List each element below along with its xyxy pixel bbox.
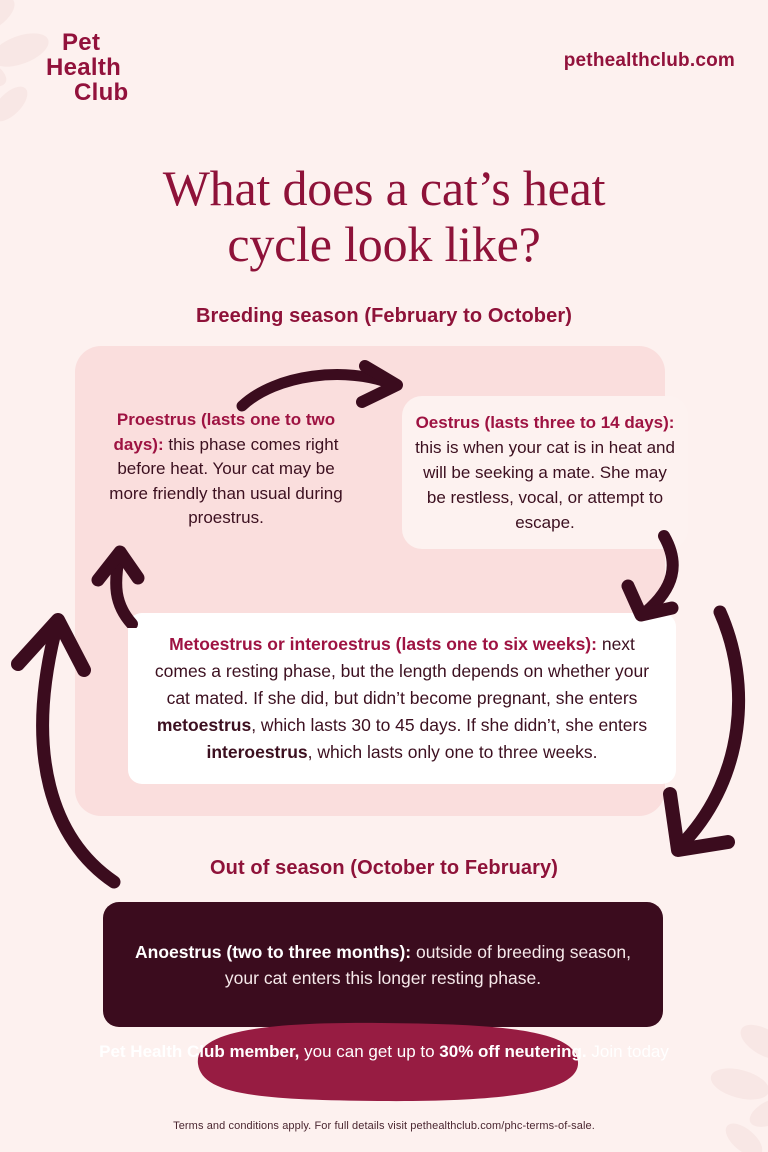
metoestrus-bold-1: metoestrus [157,715,251,735]
metoestrus-bold-2: interoestrus [206,742,307,762]
infographic-page: Pet Health Club pethealthclub.com What d… [0,0,768,1152]
logo-line-2: Health [46,55,166,80]
cta-bold-1: Pet Health Club member, [99,1042,299,1061]
metoestrus-heading: Metoestrus or interoestrus (lasts one to… [169,634,597,654]
cta-text: Pet Health Club member, you can get up t… [0,1039,768,1064]
phase-card-proestrus: Proestrus (lasts one to two days): this … [92,398,360,541]
metoestrus-body-2: , which lasts 30 to 45 days. If she didn… [251,715,647,735]
page-title-line-2: cycle look like? [0,216,768,272]
anoestrus-heading: Anoestrus (two to three months): [135,942,411,962]
breeding-season-label: Breeding season (February to October) [0,305,768,328]
cta-text-2: Join today [587,1042,669,1061]
metoestrus-body-3: , which lasts only one to three weeks. [308,742,598,762]
brand-logo[interactable]: Pet Health Club [46,30,166,105]
phase-card-metoestrus: Metoestrus or interoestrus (lasts one to… [128,613,676,784]
page-title-line-1: What does a cat’s heat [0,160,768,216]
phase-card-anoestrus: Anoestrus (two to three months): outside… [103,902,663,1027]
cta-banner[interactable]: Pet Health Club member, you can get up t… [0,1020,768,1104]
oestrus-body: this is when your cat is in heat and wil… [415,438,675,532]
phase-card-oestrus: Oestrus (lasts three to 14 days): this i… [402,396,688,549]
cta-text-1: you can get up to [299,1042,439,1061]
logo-line-3: Club [74,80,166,105]
website-url[interactable]: pethealthclub.com [564,50,735,72]
logo-line-1: Pet [62,30,166,55]
page-title: What does a cat’s heat cycle look like? [0,160,768,272]
terms-and-conditions: Terms and conditions apply. For full det… [0,1120,768,1132]
out-of-season-label: Out of season (October to February) [0,857,768,880]
cta-bold-2: 30% off neutering. [439,1042,586,1061]
oestrus-heading: Oestrus (lasts three to 14 days): [416,413,675,432]
